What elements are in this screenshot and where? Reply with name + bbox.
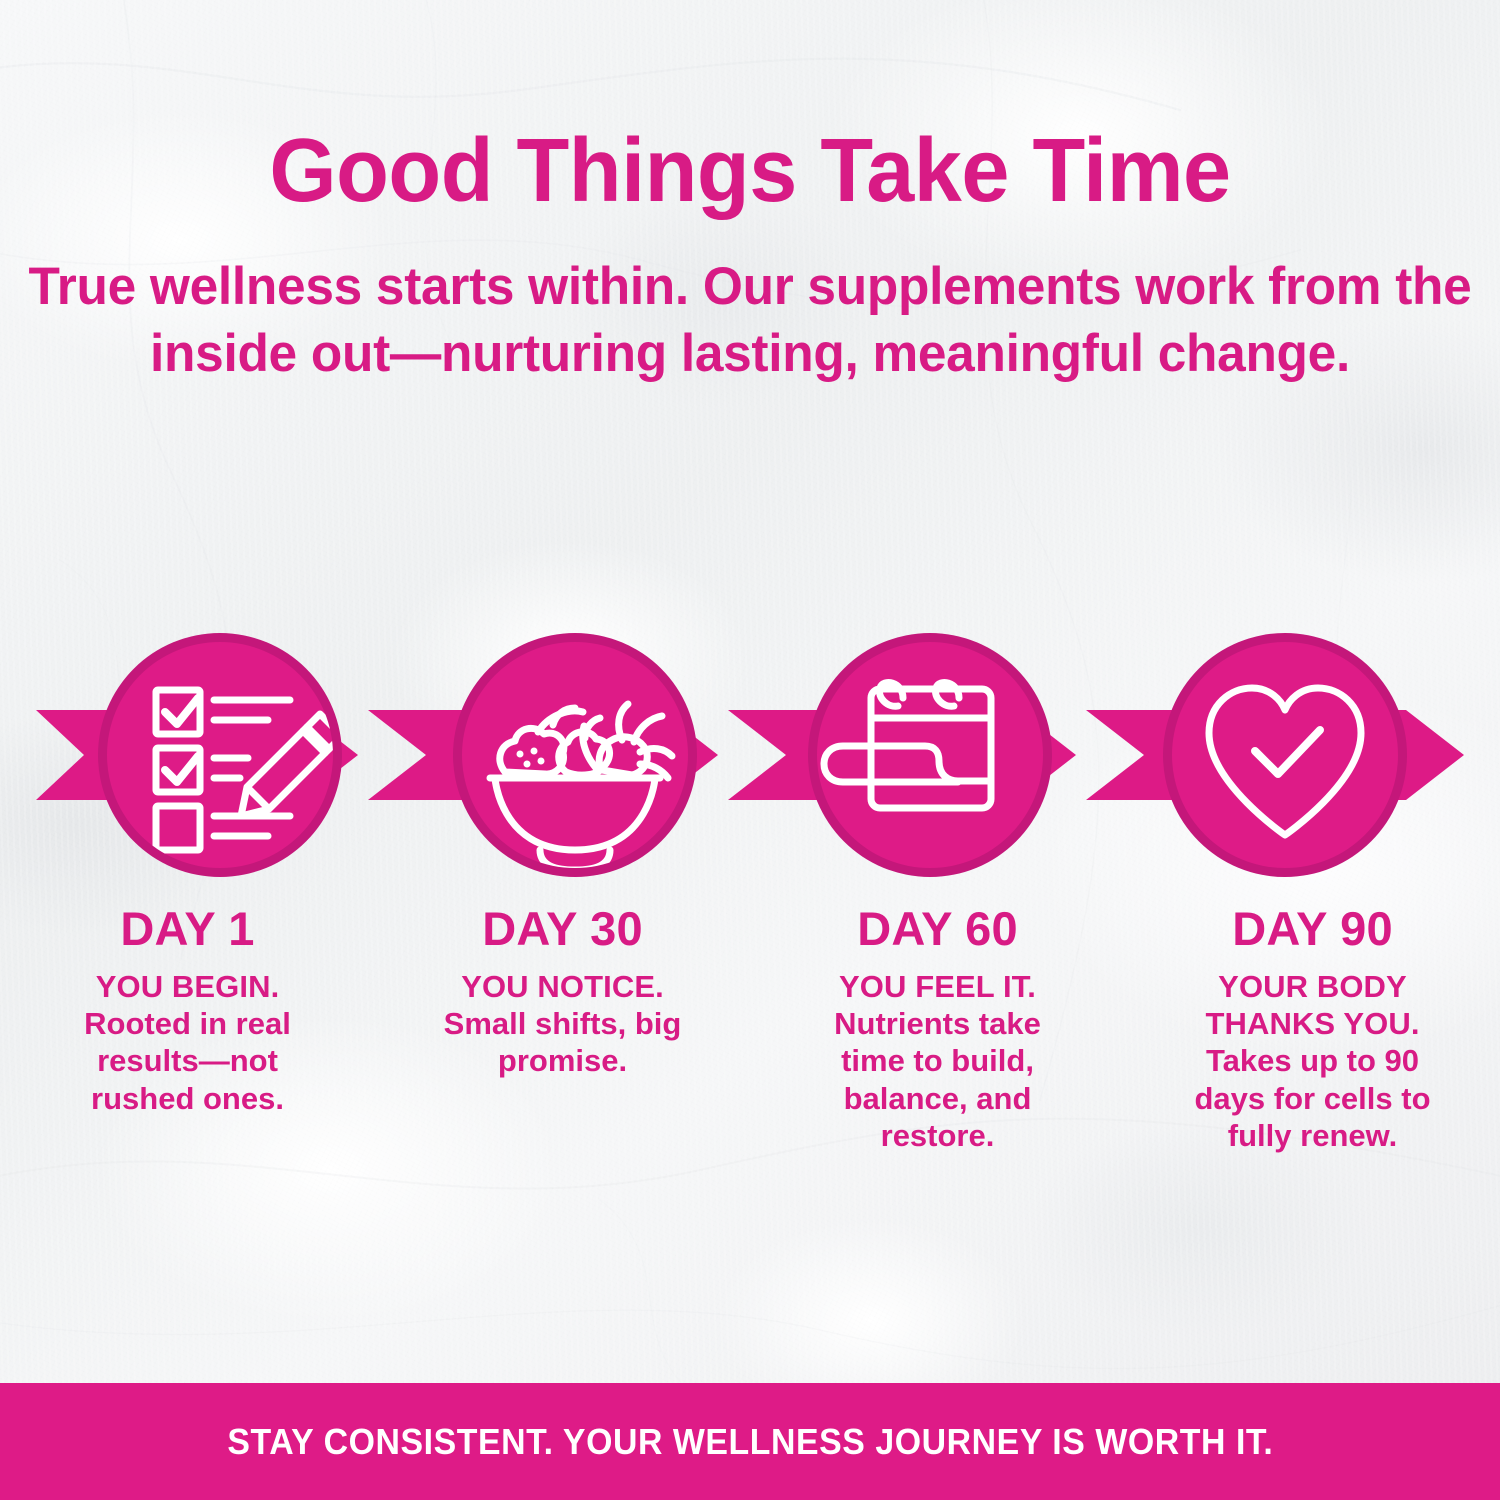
page-title: Good Things Take Time bbox=[30, 0, 1470, 216]
step-headline: YOU NOTICE. bbox=[428, 968, 698, 1005]
node-circle-2 bbox=[462, 642, 688, 868]
step-column-3: DAY 60 YOU FEEL IT. Nutrients take time … bbox=[750, 905, 1125, 1154]
step-description: Rooted in real results—not rushed ones. bbox=[53, 1005, 323, 1117]
step-description: Nutrients take time to build, balance, a… bbox=[803, 1005, 1073, 1154]
timeline-node-4[interactable] bbox=[1163, 633, 1407, 877]
step-day-label: DAY 30 bbox=[482, 905, 643, 952]
step-day-label: DAY 1 bbox=[120, 905, 254, 952]
step-headline: YOUR BODY THANKS YOU. bbox=[1178, 968, 1448, 1042]
footer-banner: STAY CONSISTENT. YOUR WELLNESS JOURNEY I… bbox=[0, 1383, 1500, 1500]
step-column-1: DAY 1 YOU BEGIN. Rooted in real results—… bbox=[0, 905, 375, 1154]
step-column-2: DAY 30 YOU NOTICE. Small shifts, big pro… bbox=[375, 905, 750, 1154]
timeline-node-3[interactable] bbox=[808, 633, 1052, 877]
step-headline: YOU FEEL IT. bbox=[803, 968, 1073, 1005]
footer-text: STAY CONSISTENT. YOUR WELLNESS JOURNEY I… bbox=[227, 1421, 1273, 1463]
timeline-node-1[interactable] bbox=[98, 633, 342, 877]
node-circle-3 bbox=[817, 642, 1043, 868]
timeline-band bbox=[0, 620, 1500, 910]
timeline-graphic bbox=[0, 620, 1500, 910]
timeline-node-2[interactable] bbox=[453, 633, 697, 877]
step-description: Takes up to 90 days for cells to fully r… bbox=[1178, 1042, 1448, 1154]
step-text-block: YOUR BODY THANKS YOU. Takes up to 90 day… bbox=[1178, 968, 1448, 1154]
infographic-canvas: Good Things Take Time True wellness star… bbox=[0, 0, 1500, 1500]
header-block: Good Things Take Time True wellness star… bbox=[0, 0, 1500, 388]
step-text-block: YOU FEEL IT. Nutrients take time to buil… bbox=[803, 968, 1073, 1154]
step-headline: YOU BEGIN. bbox=[53, 968, 323, 1005]
step-day-label: DAY 90 bbox=[1232, 905, 1393, 952]
step-text-block: YOU NOTICE. Small shifts, big promise. bbox=[428, 968, 698, 1080]
step-description: Small shifts, big promise. bbox=[428, 1005, 698, 1079]
step-text-block: YOU BEGIN. Rooted in real results—not ru… bbox=[53, 968, 323, 1117]
step-text-row: DAY 1 YOU BEGIN. Rooted in real results—… bbox=[0, 905, 1500, 1154]
step-column-4: DAY 90 YOUR BODY THANKS YOU. Takes up to… bbox=[1125, 905, 1500, 1154]
page-subtitle: True wellness starts within. Our supplem… bbox=[23, 216, 1478, 388]
step-day-label: DAY 60 bbox=[857, 905, 1018, 952]
